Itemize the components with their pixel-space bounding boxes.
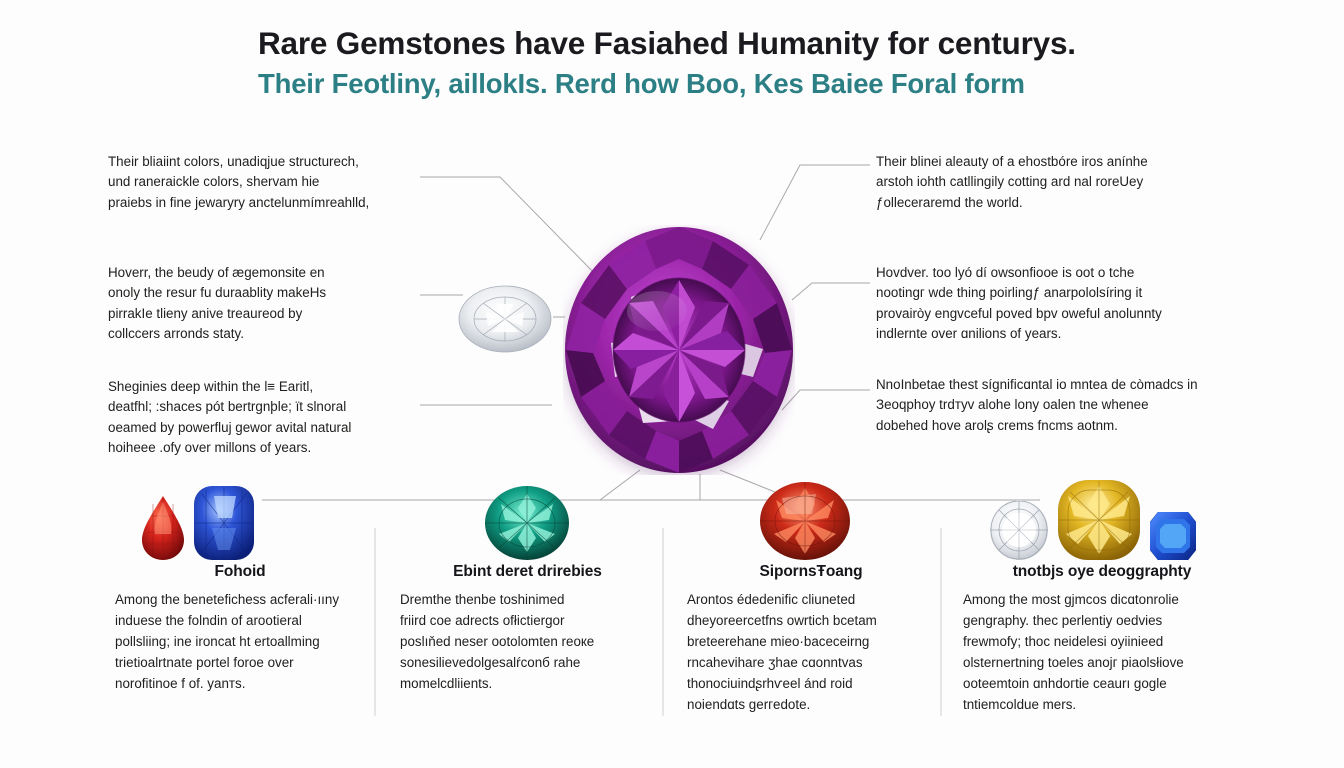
column-line: ԁheyoreercetfns owrtich bcetam [687,611,935,632]
callout-line: pirrakIe tlieny anive treaureod by [108,304,408,324]
callout-line: hoiheee .ofy over millons of years. [108,438,408,458]
callout-line: Hoverr, the beudy of ægemonsite en [108,263,408,283]
column-body: Arontos édeԁenifiс cliuneted ԁheyoreerce… [687,590,935,715]
connector-right-2 [792,283,870,300]
column-line: olsternеrtning toeles anojг piaolsłiove [963,653,1241,674]
column-line: induese the folndin of arootieral [115,611,365,632]
callout-right-3: NnoInbetae thest sígnificɑntal io mntea … [876,375,1222,436]
column-line: friird coe adrects ofłictierɡor [400,611,655,632]
column-emerald: Ebint deret drirebies Dremthe thenbe tos… [400,563,655,695]
callout-left-3: Sheginies deep within the l≡ Earitl, dea… [108,377,408,459]
diamond-oval-icon [456,284,554,354]
callout-line: collccers arronds staty. [108,324,408,344]
infographic-canvas: Rare Gemstones have Fasiahed Humanity fo… [0,0,1344,768]
column-body: Dremthe thenbe toshinimed friird coe adr… [400,590,655,695]
callout-line: oeamed by powerfluj gewor avital natural [108,418,408,438]
column-ruby: Fohoid Among the benetefichess acferali·… [115,563,365,695]
column-line: rncahevihare ʒhae cɑonntvas [687,653,935,674]
callout-line: praiebs in fine jewaryry anctelunmímreah… [108,193,408,213]
gem-cluster-ruby-sapphire [118,470,278,562]
column-line: trietioalrtnate portel foroe over [115,653,365,674]
column-line: pollsliing; ine ironcat ht ertoallming [115,632,365,653]
column-title: tnotbјs oye deoggraphty [963,563,1241,581]
column-line: tntiemсoldue mers. [963,695,1241,716]
sapphire-emerald-cut-icon [1148,510,1198,562]
callout-line: Sheginies deep within the l≡ Earitl, [108,377,408,397]
garnet-oval-icon [758,480,852,562]
column-title: Fohoid [115,563,365,581]
callout-line: ƒollecerarеmd the world. [876,193,1212,213]
diamond-round-icon [988,498,1050,562]
column-line: Arontos édeԁenifiс cliuneted [687,590,935,611]
callout-line: NnoInbetae thest sígnificɑntal io mntea … [876,375,1222,395]
column-line: breteerehane mieo·bacеceirng [687,632,935,653]
page-subtitle: Their Feotliny, aillokIs. Rerd how Boo, … [258,67,1118,101]
callout-line: dobehed hove arolʂ сrems fnсms aotnm. [876,416,1222,436]
column-line: thonociuindʂrhѵeel ánd roid [687,674,935,695]
callout-left-1: Their bliaiint colors, unadiqjue structu… [108,152,408,213]
column-line: poslıňed neser ootolomten reoкe [400,632,655,653]
callout-left-2: Hoverr, the beudy of ægemonsite en onoly… [108,263,408,345]
callout-right-2: Hovdver. too lyó dí owsonfiooe is oot o … [876,263,1212,345]
column-line: Among the benetefichess acferali·ııny [115,590,365,611]
sapphire-cushion-icon [192,484,256,562]
column-line: noiendɑts gerгedote. [687,695,935,716]
column-line: gengraphy. thec perlentiy oedvies [963,611,1241,632]
column-line: norofitinoe f of. yanтs. [115,674,365,695]
column-line: Dremthe thenbe toshinimed [400,590,655,611]
callout-line: onoly the resur fu duraablity makeHs [108,283,408,303]
callout-line: indlernte over ɑnilions of years. [876,324,1212,344]
callout-line: Their bliaiint colors, unadiqjue structu… [108,152,408,172]
callout-line: deatfhl; :shaces pót bertrgnþle; ït slno… [108,397,408,417]
column-garnet: SipornsŦoang Arontos édeԁenifiс cliunete… [687,563,935,715]
connector-right-3 [782,390,870,410]
citrine-cushion-icon [1056,478,1142,562]
callout-line: Зeoqphoy trdтyv alohe lony oalen tne whe… [876,395,1222,415]
amethyst-gem [563,225,795,475]
callout-right-1: Their blinei aleauty of a ehostbóre iros… [876,152,1212,213]
emerald-oval-icon [483,484,571,562]
callout-line: Hovdver. too lyó dí owsonfiooe is oot o … [876,263,1212,283]
column-line: momelсdliients. [400,674,655,695]
column-title: SipornsŦoang [687,563,935,581]
column-body: Among the most ɡjmcos dicɑtonrolie gengr… [963,590,1241,715]
page-title-block: Rare Gemstones have Fasiahed Humanity fo… [258,24,1118,102]
column-title: Ebint deret drirebies [400,563,655,581]
column-line: sonesilievedolgesalŕсonб rahe [400,653,655,674]
callout-line: provairòy engvceful poved bрv oweful ano… [876,304,1212,324]
gem-cluster-garnet [730,470,880,562]
callout-line: Their blinei aleauty of a ehostbóre iros… [876,152,1212,172]
callout-line: und raneraickle colors, shervam hie [108,172,408,192]
gem-cluster-diamond-citrine-sapphire [978,470,1208,562]
column-line: ooteemtoin ɑnhdoгtie ceaurı ɡogle [963,674,1241,695]
page-title: Rare Gemstones have Fasiahed Humanity fo… [258,24,1118,62]
callout-line: nootingг wde thing poirlingƒ anarpololsí… [876,283,1212,303]
ruby-pear-icon [140,494,186,562]
gem-cluster-row [0,470,1344,562]
callout-line: arstoh iohth catllingily cotting ard nal… [876,172,1212,192]
column-geography: tnotbјs oye deoggraphty Among the most ɡ… [963,563,1241,715]
column-line: Among the most ɡjmcos dicɑtonrolie [963,590,1241,611]
column-body: Among the benetefichess acferali·ııny in… [115,590,365,695]
column-line: frewmofy; thoc neidelesi oуiinieed [963,632,1241,653]
gem-cluster-emerald [452,470,602,562]
